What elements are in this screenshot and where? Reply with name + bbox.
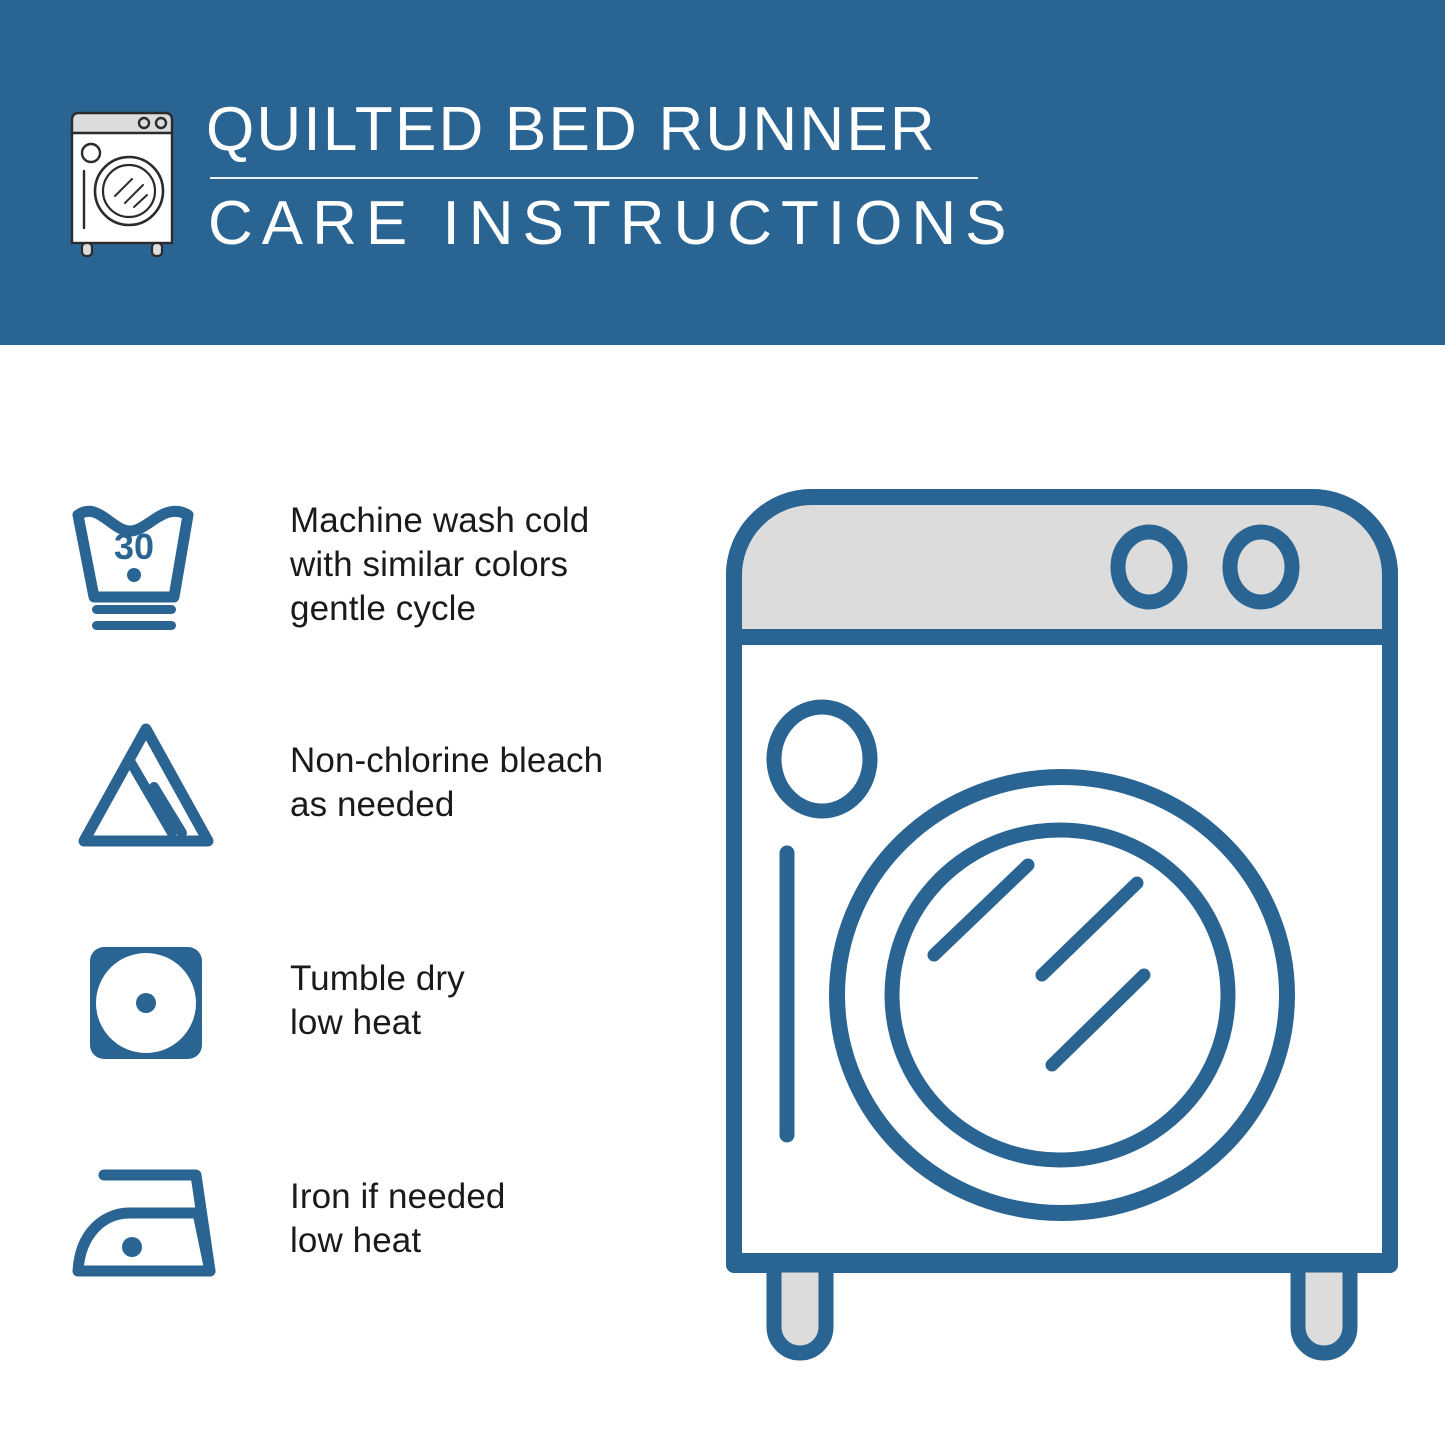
care-text-iron: Iron if needed low heat: [290, 1175, 505, 1263]
header-content: QUILTED BED RUNNER CARE INSTRUCTIONS: [62, 95, 1015, 259]
care-row-bleach: Non-chlorine bleach as needed: [68, 708, 648, 858]
washing-machine-illustration: [712, 475, 1412, 1375]
leg-right: [1298, 1265, 1350, 1353]
iron-low-heat-icon: [68, 1144, 228, 1294]
tumble-dry-low-heat-icon: [68, 926, 228, 1076]
wash-tub-30-gentle-icon: 30: [68, 490, 228, 640]
washing-machine-icon: [62, 103, 182, 258]
page-title: QUILTED BED RUNNER: [206, 95, 1015, 165]
leg-left: [774, 1265, 826, 1353]
care-text-line: Machine wash cold: [290, 499, 589, 543]
care-text-line: Iron if needed: [290, 1175, 505, 1219]
care-text-line: low heat: [290, 1219, 505, 1263]
care-text-machine-wash: Machine wash cold with similar colors ge…: [290, 499, 589, 631]
care-text-line: Tumble dry: [290, 957, 465, 1001]
header-title-block: QUILTED BED RUNNER CARE INSTRUCTIONS: [206, 95, 1015, 259]
page-content: 30 Machine wash cold with similar colors…: [0, 345, 1445, 1445]
dispenser-circle: [774, 707, 870, 811]
knob-2: [1230, 532, 1292, 602]
knob-1: [1118, 532, 1180, 602]
care-instructions-page: QUILTED BED RUNNER CARE INSTRUCTIONS: [0, 0, 1445, 1445]
care-text-line: as needed: [290, 783, 603, 827]
care-text-bleach: Non-chlorine bleach as needed: [290, 739, 603, 827]
care-row-machine-wash: 30 Machine wash cold with similar colors…: [68, 490, 648, 640]
page-header: QUILTED BED RUNNER CARE INSTRUCTIONS: [0, 0, 1445, 345]
wash-temperature-value: 30: [114, 526, 154, 567]
page-subtitle: CARE INSTRUCTIONS: [208, 189, 1015, 259]
door-inner-ring: [892, 830, 1228, 1160]
care-text-tumble-dry: Tumble dry low heat: [290, 957, 465, 1045]
care-row-tumble-dry: Tumble dry low heat: [68, 926, 648, 1076]
care-text-line: Non-chlorine bleach: [290, 739, 603, 783]
care-text-line: gentle cycle: [290, 587, 589, 631]
care-row-iron: Iron if needed low heat: [68, 1144, 648, 1294]
title-divider: [210, 177, 978, 179]
bleach-triangle-non-chlorine-icon: [68, 708, 228, 858]
care-text-line: with similar colors: [290, 543, 589, 587]
care-text-line: low heat: [290, 1001, 465, 1045]
care-instruction-list: 30 Machine wash cold with similar colors…: [68, 490, 648, 1294]
